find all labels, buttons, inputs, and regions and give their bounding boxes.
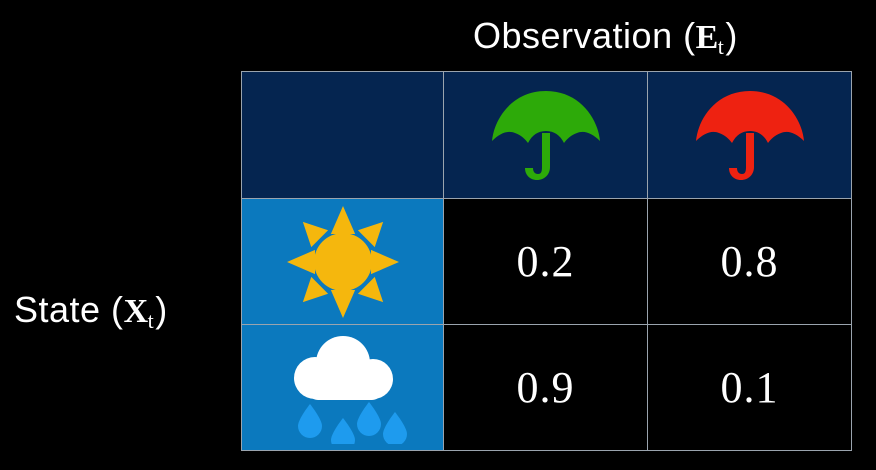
observation-label-text: Observation ( <box>473 15 696 56</box>
state-variable-subscript: t <box>148 308 155 333</box>
conditional-probability-table: 0.2 0.8 <box>241 71 852 451</box>
sun-icon <box>242 199 443 324</box>
header-cell-umbrella-red <box>648 72 852 199</box>
probability-cell: 0.2 <box>444 199 648 325</box>
probability-cell: 0.9 <box>444 325 648 451</box>
observation-axis-label: Observation (Et) <box>473 18 738 55</box>
state-axis-label: State (Xt) <box>14 292 168 329</box>
probability-cell: 0.1 <box>648 325 852 451</box>
table-header-row <box>242 72 852 199</box>
observation-label-close: ) <box>725 15 738 56</box>
table-row: 0.2 0.8 <box>242 199 852 325</box>
umbrella-red-icon <box>648 72 851 198</box>
corner-cell <box>242 72 444 199</box>
table-row: 0.9 0.1 <box>242 325 852 451</box>
header-cell-umbrella-green <box>444 72 648 199</box>
observation-variable: E <box>696 19 719 56</box>
row-header-cell-sun <box>242 199 444 325</box>
rain-cloud-icon <box>242 325 443 450</box>
state-variable: X <box>124 293 149 330</box>
state-label-close: ) <box>155 289 168 330</box>
state-label-text: State ( <box>14 289 124 330</box>
observation-variable-subscript: t <box>718 34 725 59</box>
probability-cell: 0.8 <box>648 199 852 325</box>
row-header-cell-rain <box>242 325 444 451</box>
umbrella-green-icon <box>444 72 647 198</box>
